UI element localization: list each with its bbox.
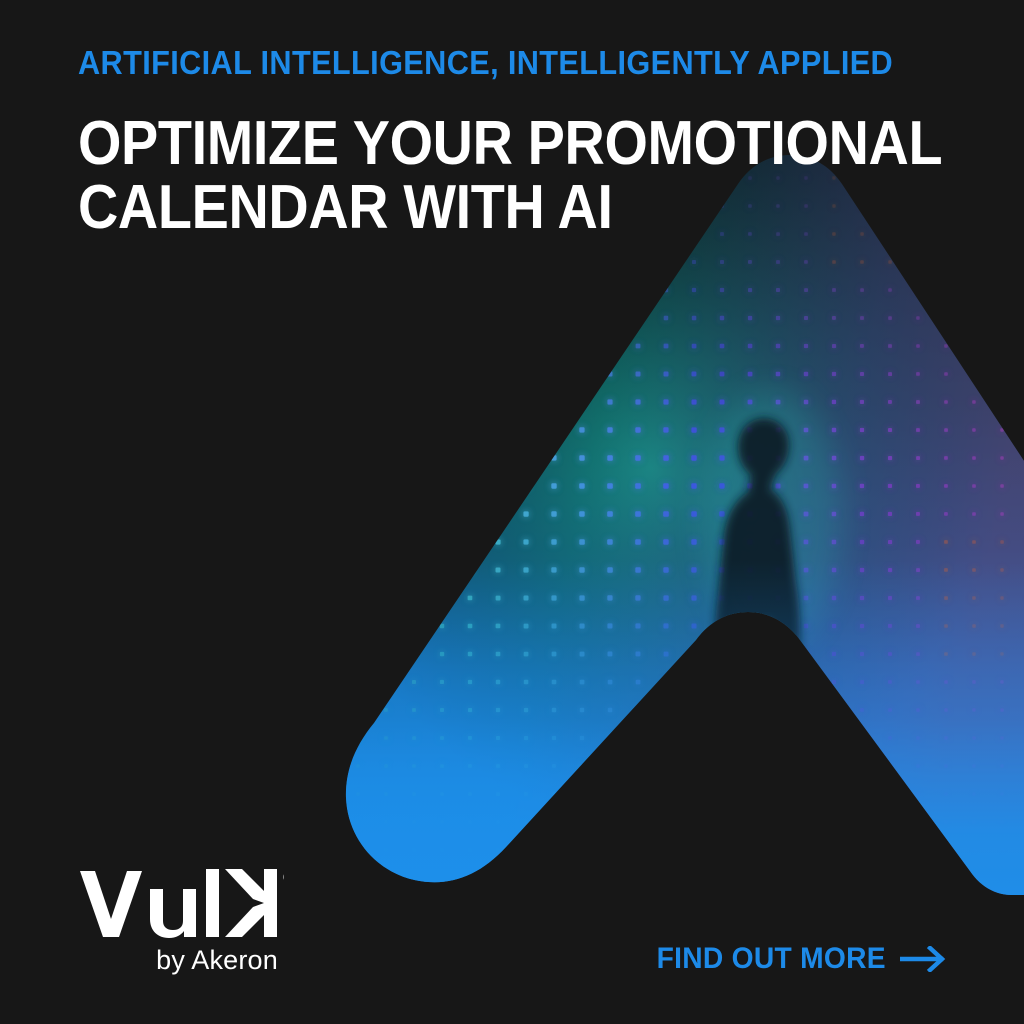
eyebrow-tagline: ARTIFICIAL INTELLIGENCE, INTELLIGENTLY A… [78,46,893,79]
headline-line-2: CALENDAR WITH AI [78,176,942,240]
promotional-ad-banner: ARTIFICIAL INTELLIGENCE, INTELLIGENTLY A… [0,0,1024,1024]
vulki-wordmark [78,869,284,941]
logo-byline: by Akeron [78,945,278,976]
page-title: OPTIMIZE YOUR PROMOTIONAL CALENDAR WITH … [78,112,942,240]
arrow-right-icon [900,946,946,972]
find-out-more-button[interactable]: FIND OUT MORE [642,942,946,976]
cta-label: FIND OUT MORE [657,942,886,976]
headline-line-1: OPTIMIZE YOUR PROMOTIONAL [78,112,942,176]
brand-logo[interactable]: by Akeron [78,869,378,976]
